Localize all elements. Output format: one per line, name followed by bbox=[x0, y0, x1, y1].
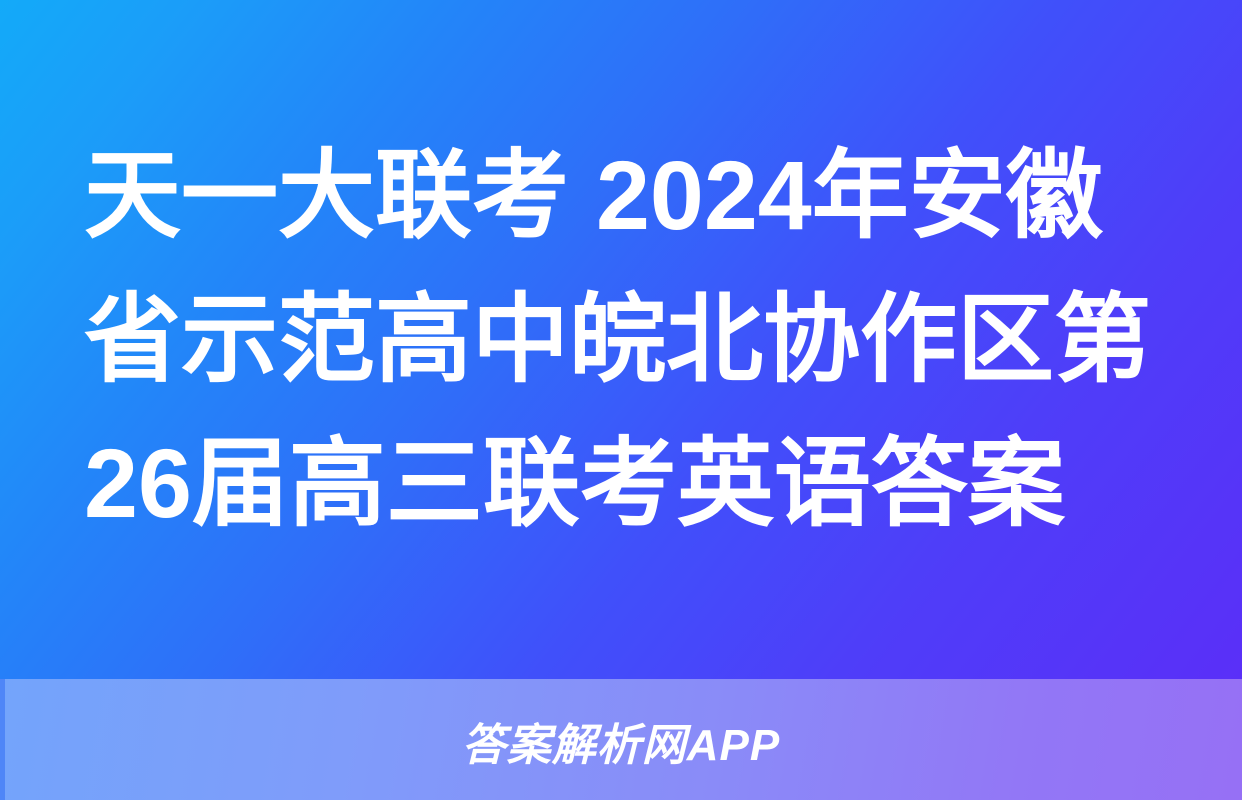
page-title: 天一大联考 2024年安徽 省示范高中皖北协作区第 26届高三联考英语答案 bbox=[84, 124, 1164, 556]
footer-watermark-bar: 答案解析网APP bbox=[0, 679, 1242, 800]
app-watermark-label: 答案解析网APP bbox=[462, 709, 780, 773]
hero-gradient-panel: 天一大联考 2024年安徽 省示范高中皖北协作区第 26届高三联考英语答案 bbox=[0, 0, 1242, 679]
title-line-2: 省示范高中皖北协作区第 bbox=[84, 268, 1164, 412]
title-line-3: 26届高三联考英语答案 bbox=[84, 412, 1164, 556]
title-line-1: 天一大联考 2024年安徽 bbox=[84, 124, 1164, 268]
answer-banner-card: 天一大联考 2024年安徽 省示范高中皖北协作区第 26届高三联考英语答案 答案… bbox=[0, 0, 1242, 800]
footer-left-edge-accent bbox=[0, 679, 5, 800]
